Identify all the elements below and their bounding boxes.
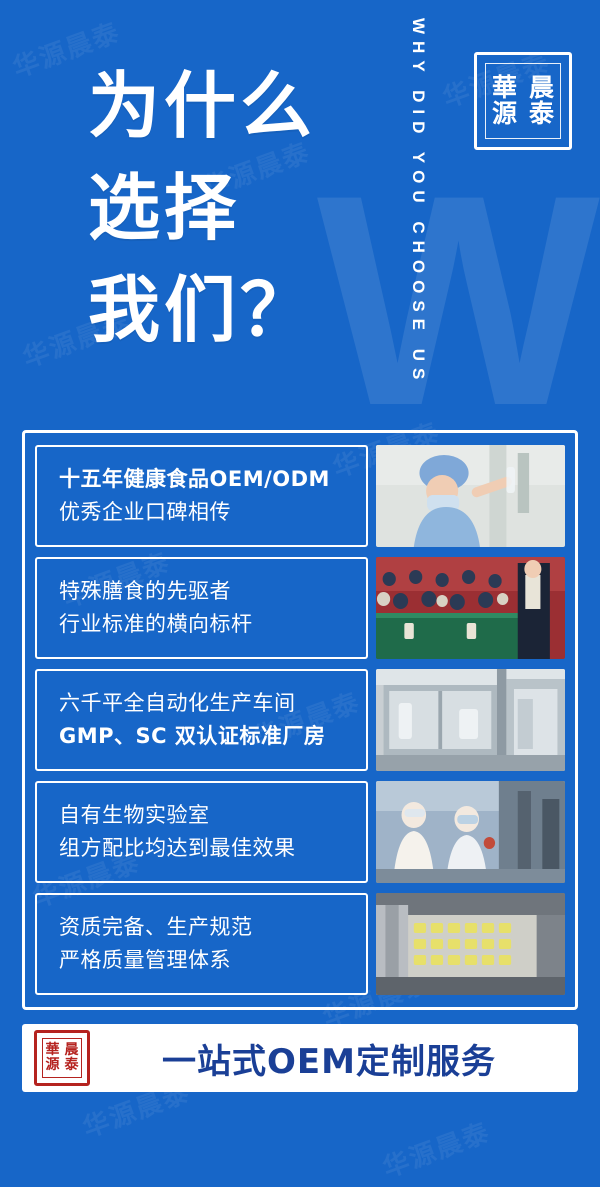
headline-line-3: 我们？ <box>88 259 316 361</box>
feature-text-4: 自有生物实验室 组方配比均达到最佳效果 <box>35 781 368 883</box>
feature-2-line-2: 行业标准的横向标杆 <box>59 608 366 641</box>
headline-line-1: 为什么 <box>88 55 316 157</box>
list-item: 资质完备、生产规范 严格质量管理体系 <box>35 893 565 995</box>
footer-banner: 華源 晨泰 一站式OEM定制服务 <box>22 1024 578 1092</box>
brand-seal-characters: 華源 晨泰 <box>485 63 561 139</box>
seal-char-line-1: 華源 <box>486 75 523 128</box>
photo-lab-technician-icon <box>376 445 565 547</box>
feature-photo-production-workers <box>376 781 565 883</box>
photo-production-workers-icon <box>376 781 565 883</box>
list-item: 十五年健康食品OEM/ODM 优秀企业口碑相传 <box>35 445 565 547</box>
feature-1-line-2: 优秀企业口碑相传 <box>59 496 366 529</box>
photo-conference-icon <box>376 557 565 659</box>
footer-seal-char-line-2: 晨泰 <box>62 1043 81 1072</box>
feature-photo-conference <box>376 557 565 659</box>
feature-photo-cleanroom <box>376 669 565 771</box>
feature-4-line-2: 组方配比均达到最佳效果 <box>59 832 366 865</box>
feature-photo-lab-technician <box>376 445 565 547</box>
vertical-subtitle: WHY DID YOU CHOOSE US <box>408 18 428 386</box>
feature-text-2: 特殊膳食的先驱者 行业标准的横向标杆 <box>35 557 368 659</box>
photo-packaging-machine-icon <box>376 893 565 995</box>
bottom-spacer <box>0 1092 600 1132</box>
photo-cleanroom-icon <box>376 669 565 771</box>
feature-5-line-2: 严格质量管理体系 <box>59 944 366 977</box>
feature-text-3: 六千平全自动化生产车间 GMP、SC 双认证标准厂房 <box>35 669 368 771</box>
feature-2-line-1: 特殊膳食的先驱者 <box>59 575 366 608</box>
footer-slogan: 一站式OEM定制服务 <box>90 1034 578 1083</box>
list-item: 自有生物实验室 组方配比均达到最佳效果 <box>35 781 565 883</box>
brand-seal-logo: 華源 晨泰 <box>474 52 572 150</box>
headline-line-2: 选择 <box>88 157 316 259</box>
feature-3-line-2: GMP、SC 双认证标准厂房 <box>59 720 366 753</box>
page-title: 为什么 选择 我们？ <box>88 55 316 362</box>
footer-seal-characters: 華源 晨泰 <box>42 1038 82 1078</box>
footer-seal-char-line-1: 華源 <box>43 1043 62 1072</box>
feature-3-line-1: 六千平全自动化生产车间 <box>59 687 366 720</box>
feature-list-panel: 十五年健康食品OEM/ODM 优秀企业口碑相传 <box>22 430 578 1010</box>
feature-photo-packaging-machine <box>376 893 565 995</box>
list-item: 特殊膳食的先驱者 行业标准的横向标杆 <box>35 557 565 659</box>
list-item: 六千平全自动化生产车间 GMP、SC 双认证标准厂房 <box>35 669 565 771</box>
feature-4-line-1: 自有生物实验室 <box>59 799 366 832</box>
seal-char-line-2: 晨泰 <box>523 75 560 128</box>
feature-1-line-1: 十五年健康食品OEM/ODM <box>59 463 366 496</box>
footer-seal-logo: 華源 晨泰 <box>34 1030 90 1086</box>
feature-text-5: 资质完备、生产规范 严格质量管理体系 <box>35 893 368 995</box>
feature-5-line-1: 资质完备、生产规范 <box>59 911 366 944</box>
poster-header: 为什么 选择 我们？ WHY DID YOU CHOOSE US 華源 晨泰 <box>0 0 600 430</box>
feature-text-1: 十五年健康食品OEM/ODM 优秀企业口碑相传 <box>35 445 368 547</box>
